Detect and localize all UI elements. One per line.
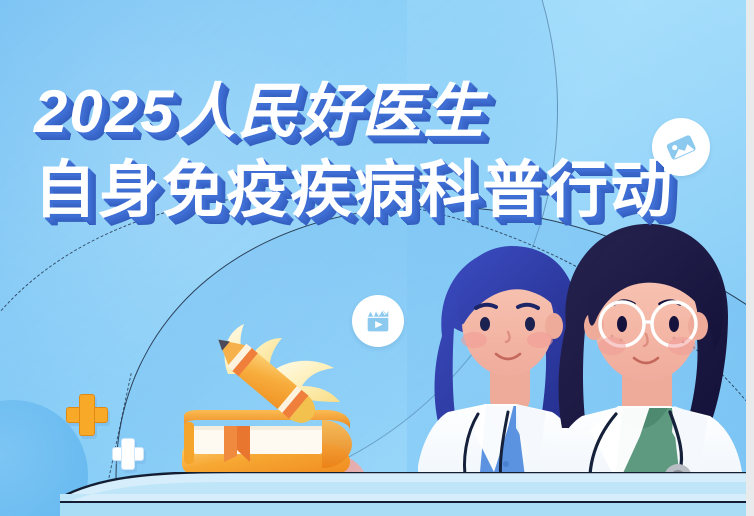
plus-mark-orange-icon bbox=[66, 394, 106, 434]
title-line-1: 2025人民好医生 bbox=[34, 82, 674, 142]
doctors-illustration bbox=[390, 216, 746, 516]
video-badge[interactable] bbox=[352, 295, 404, 347]
video-clapperboard-icon bbox=[363, 306, 393, 336]
poster-title: 2025人民好医生 自身免疫疾病科普行动 bbox=[34, 82, 674, 222]
poster-canvas: 2025人民好医生 自身免疫疾病科普行动 bbox=[0, 0, 754, 516]
desk-band-2 bbox=[60, 502, 754, 516]
right-edge-strip bbox=[746, 0, 754, 516]
plus-mark-white-icon bbox=[112, 438, 142, 468]
winged-pencil-illustration bbox=[186, 318, 350, 438]
title-line-2: 自身免疫疾病科普行动 bbox=[34, 160, 674, 222]
front-desk-counter bbox=[60, 472, 754, 516]
